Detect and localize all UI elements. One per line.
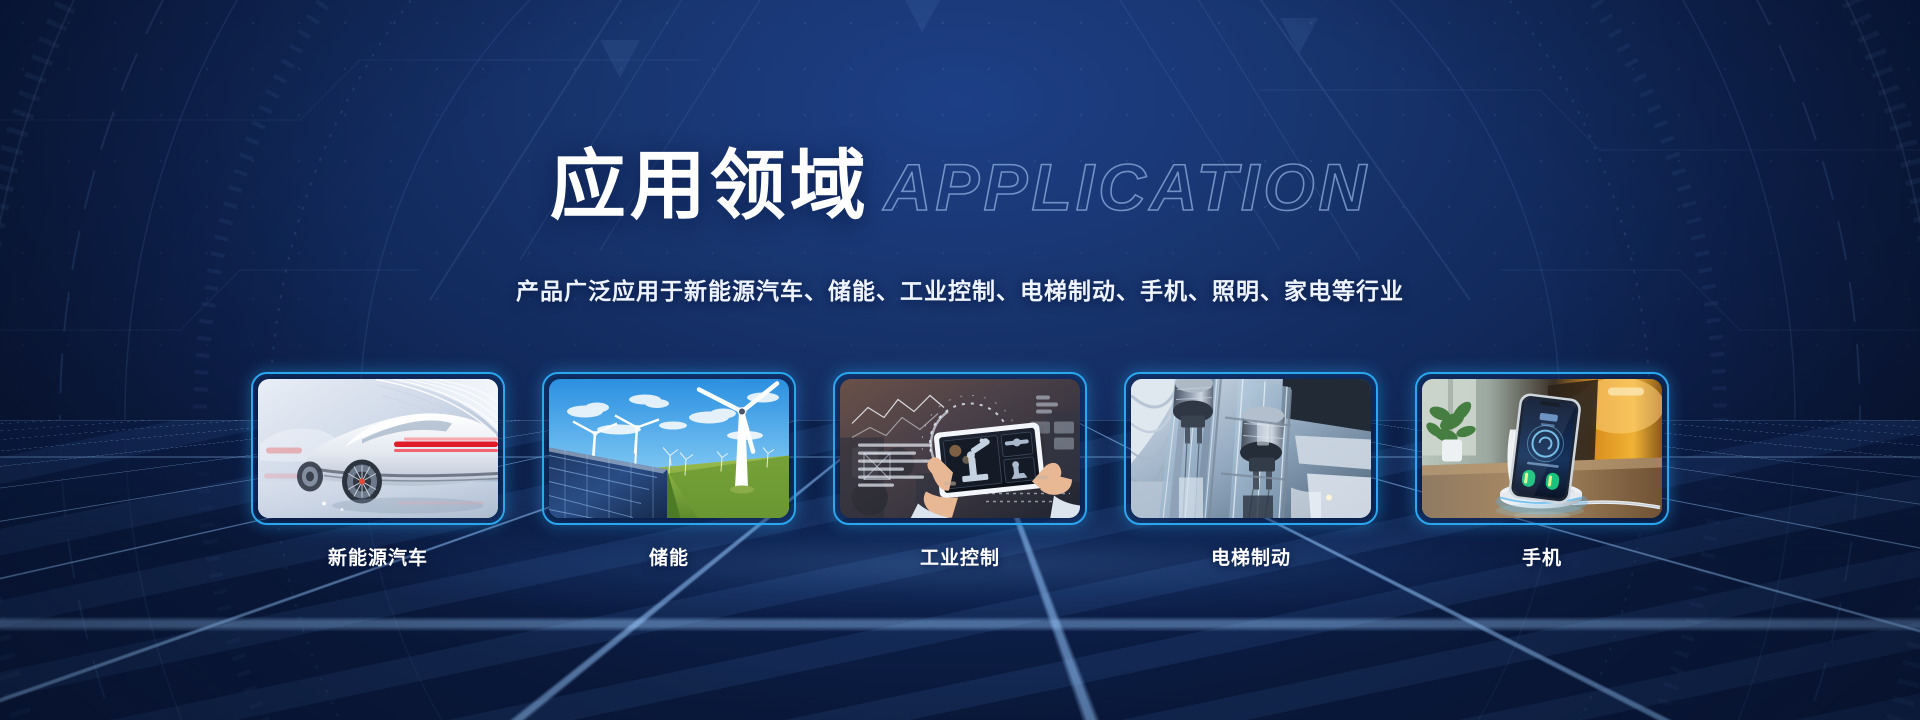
elevator-braking-photo (1131, 379, 1371, 518)
application-card-elevator-braking[interactable]: 电梯制动 (1124, 372, 1378, 570)
banner-content: 应用领域 APPLICATION 产品广泛应用于新能源汽车、储能、工业控制、电梯… (0, 0, 1920, 720)
application-card-energy-storage[interactable]: 储能 (542, 372, 796, 570)
card-frame (542, 372, 796, 525)
page-title: 应用领域 (550, 148, 870, 224)
card-label: 电梯制动 (1211, 543, 1291, 570)
banner-heading: 应用领域 APPLICATION (0, 148, 1920, 224)
card-label: 储能 (649, 543, 689, 570)
industrial-control-photo (840, 379, 1080, 518)
mobile-phone-photo (1422, 379, 1662, 518)
card-frame (833, 372, 1087, 525)
card-frame (251, 372, 505, 525)
card-label: 手机 (1522, 543, 1562, 570)
banner-subtitle: 产品广泛应用于新能源汽车、储能、工业控制、电梯制动、手机、照明、家电等行业 (0, 272, 1920, 306)
application-cards-row: 新能源汽车 (0, 372, 1920, 570)
card-label: 新能源汽车 (328, 543, 428, 570)
new-energy-vehicle-photo (258, 379, 498, 518)
card-label: 工业控制 (920, 543, 1000, 570)
page-title-english: APPLICATION (884, 153, 1370, 222)
application-banner: 应用领域 APPLICATION 产品广泛应用于新能源汽车、储能、工业控制、电梯… (0, 0, 1920, 720)
application-card-industrial-control[interactable]: 工业控制 (833, 372, 1087, 570)
energy-storage-photo (549, 379, 789, 518)
card-frame (1124, 372, 1378, 525)
application-card-new-energy-vehicle[interactable]: 新能源汽车 (251, 372, 505, 570)
application-card-mobile-phone[interactable]: 手机 (1415, 372, 1669, 570)
card-frame (1415, 372, 1669, 525)
